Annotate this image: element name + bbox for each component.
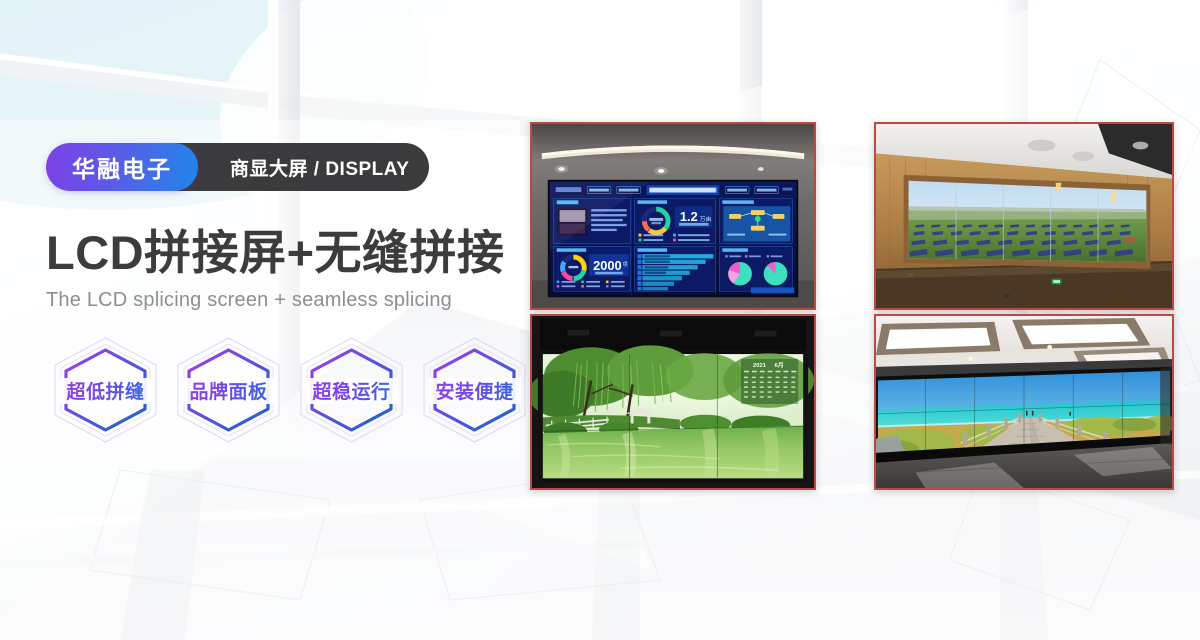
svg-text:2021: 2021	[753, 363, 767, 369]
brand-company-label: 华融电子	[46, 143, 198, 191]
solar-video-wall-image	[876, 124, 1172, 308]
page-subtitle: The LCD splicing screen + seamless splic…	[46, 289, 526, 312]
feature-item-1[interactable]: 品牌面板	[169, 332, 288, 448]
photo-dashboard[interactable]: 1.2 万亩	[530, 122, 816, 310]
svg-text:6月: 6月	[775, 361, 784, 369]
feature-label: 超低拼缝	[46, 332, 165, 448]
svg-text:1.2: 1.2	[680, 209, 698, 224]
photo-boardwalk[interactable]	[874, 314, 1174, 490]
svg-text:2000: 2000	[593, 258, 622, 273]
photo-solar[interactable]	[874, 122, 1174, 310]
feature-item-3[interactable]: 安装便捷	[415, 332, 534, 448]
feature-label: 安装便捷	[415, 332, 534, 448]
feature-item-2[interactable]: 超稳运行	[292, 332, 411, 448]
feature-label: 品牌面板	[169, 332, 288, 448]
dashboard-video-wall-image: 1.2 万亩	[532, 124, 814, 308]
headline-block: 商显大屏 / DISPLAY 华融电子 LCD拼接屏+无缝拼接 The LCD …	[46, 143, 526, 312]
feature-label: 超稳运行	[292, 332, 411, 448]
product-banner: 商显大屏 / DISPLAY 华融电子 LCD拼接屏+无缝拼接 The LCD …	[0, 0, 1200, 640]
feature-list: 超低拼缝 品牌面板	[46, 332, 534, 448]
feature-item-0[interactable]: 超低拼缝	[46, 332, 165, 448]
boardwalk-video-wall-image	[876, 316, 1172, 488]
svg-text:项: 项	[623, 262, 628, 268]
willow-video-wall-image: 2021 6月	[532, 316, 814, 488]
brand-pill: 商显大屏 / DISPLAY 华融电子	[46, 143, 411, 191]
svg-text:万亩: 万亩	[700, 215, 712, 223]
page-title: LCD拼接屏+无缝拼接	[46, 228, 526, 277]
photo-willow[interactable]: 2021 6月	[530, 314, 816, 490]
